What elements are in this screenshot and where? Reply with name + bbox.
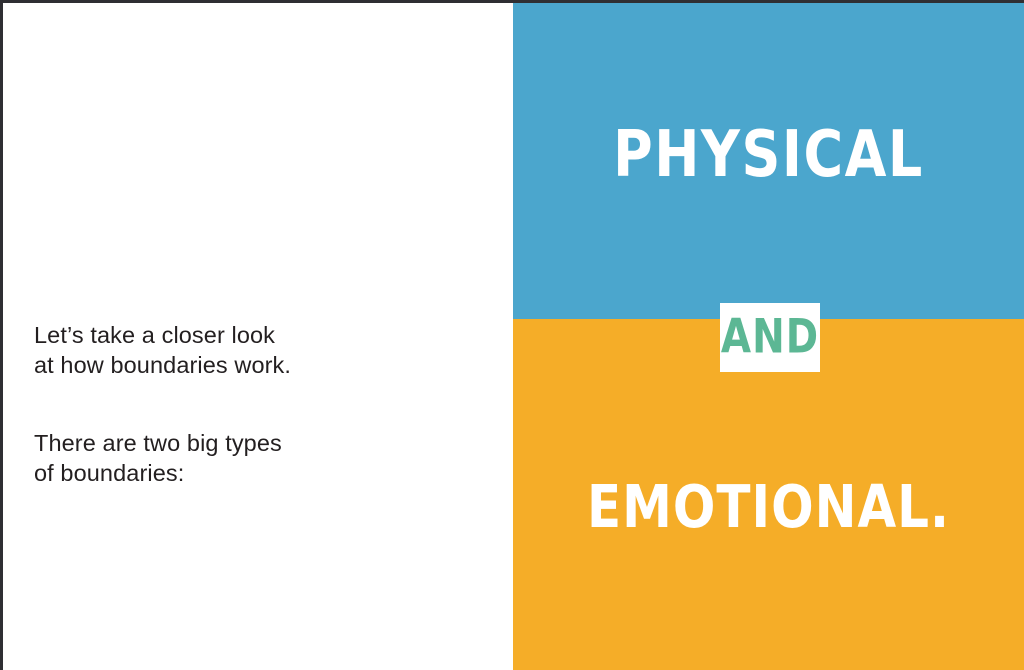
left-edge-rule xyxy=(0,0,3,670)
paragraph-types: There are two big types of boundaries: xyxy=(34,428,464,488)
top-edge-rule xyxy=(0,0,1024,3)
paragraph-intro: Let’s take a closer look at how boundari… xyxy=(34,320,464,380)
heading-and: AND xyxy=(721,314,819,361)
left-page: Let’s take a closer look at how boundari… xyxy=(0,0,513,670)
heading-emotional: EMOTIONAL. xyxy=(513,475,1024,539)
heading-physical: PHYSICAL xyxy=(513,121,1024,189)
book-spread: Let’s take a closer look at how boundari… xyxy=(0,0,1024,670)
conjunction-card: AND xyxy=(720,303,820,372)
right-page: PHYSICAL AND EMOTIONAL. xyxy=(513,0,1024,670)
body-copy-block: Let’s take a closer look at how boundari… xyxy=(34,320,464,488)
